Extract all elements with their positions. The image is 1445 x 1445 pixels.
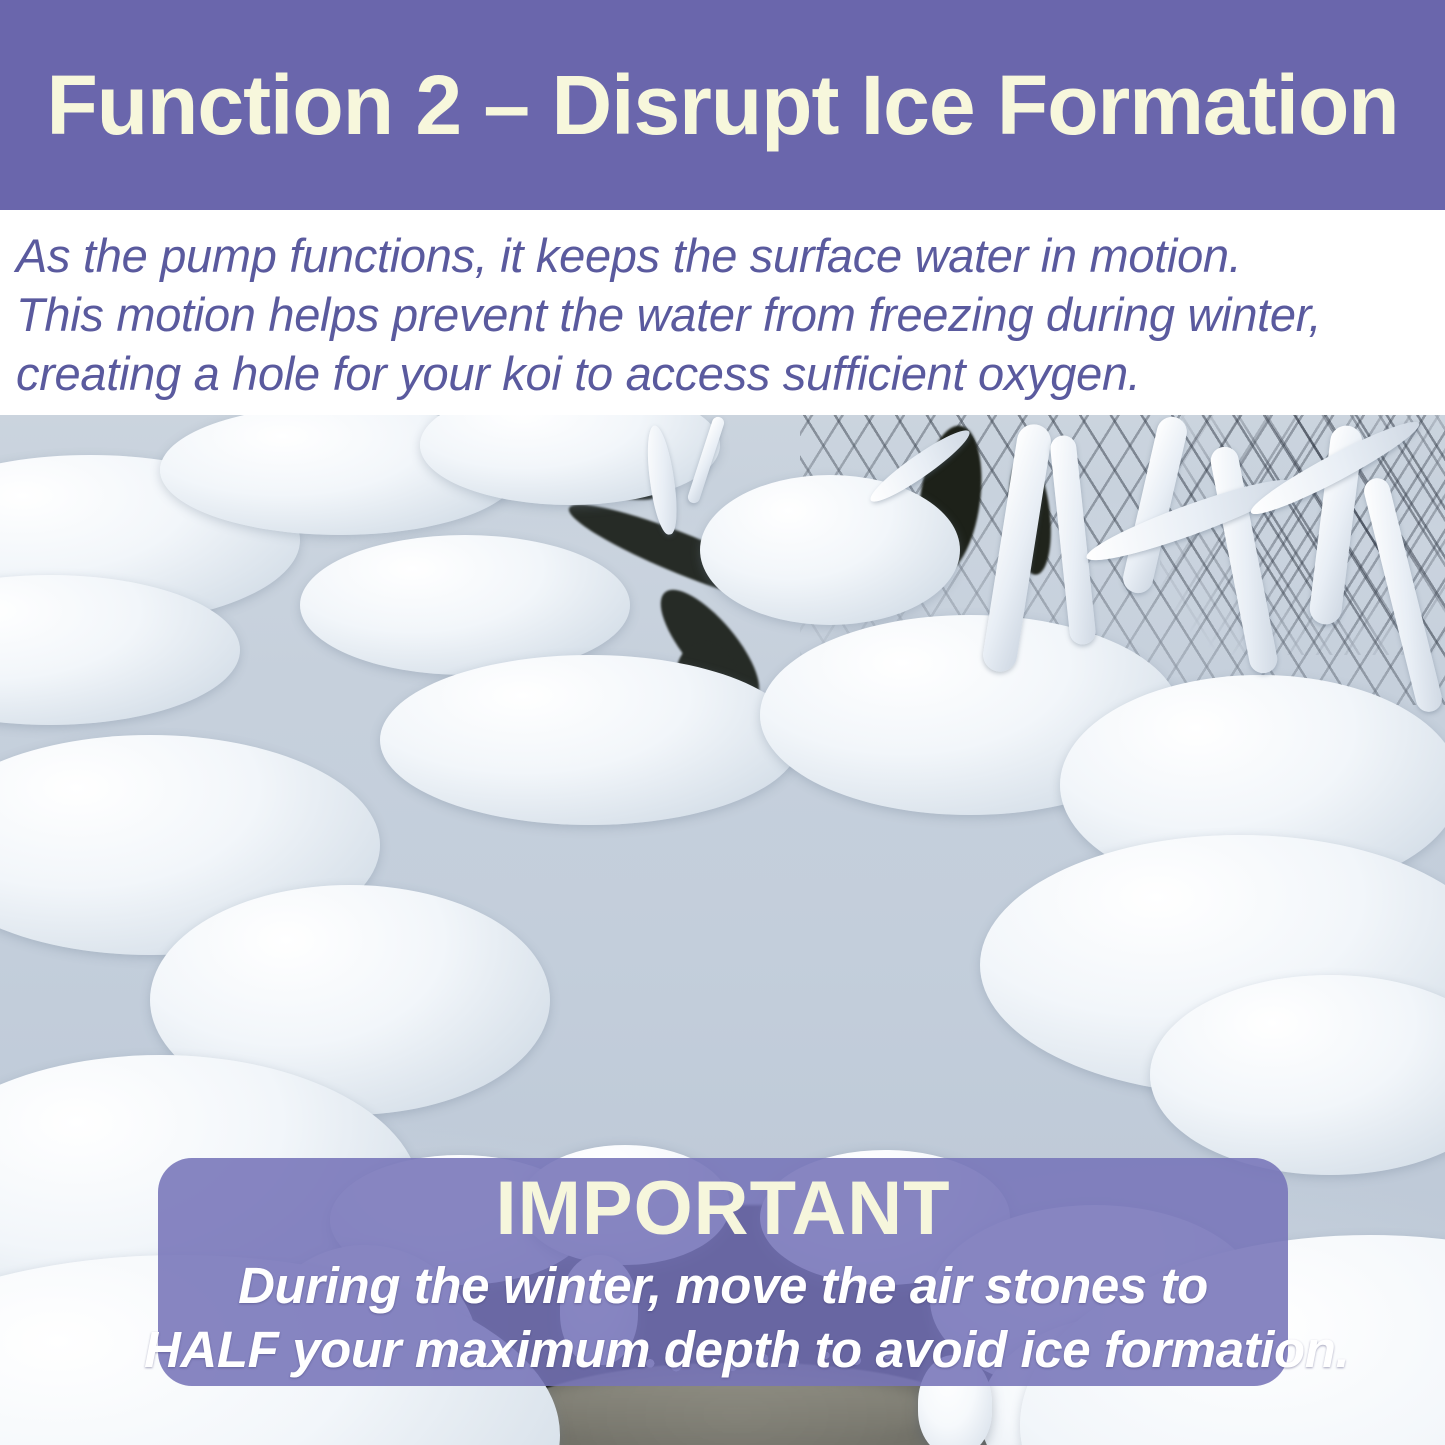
callout-body: During the winter, move the air stones t…: [144, 1254, 1302, 1382]
infographic-page: Function 2 – Disrupt Ice Formation As th…: [0, 0, 1445, 1445]
callout-line-1: During the winter, move the air stones t…: [144, 1254, 1302, 1318]
intro-paragraph: As the pump functions, it keeps the surf…: [0, 210, 1445, 415]
callout-title: IMPORTANT: [158, 1168, 1288, 1250]
important-callout: IMPORTANT During the winter, move the ai…: [158, 1158, 1288, 1386]
intro-line-3: creating a hole for your koi to access s…: [16, 344, 1431, 403]
snow-mound-5: [700, 475, 960, 625]
intro-line-1: As the pump functions, it keeps the surf…: [16, 226, 1431, 285]
page-title: Function 2 – Disrupt Ice Formation: [46, 63, 1398, 147]
header-banner: Function 2 – Disrupt Ice Formation: [0, 0, 1445, 210]
snow-mound-7: [380, 655, 800, 825]
intro-line-2: This motion helps prevent the water from…: [16, 285, 1431, 344]
snow-mound-6: [300, 535, 630, 675]
callout-line-2: HALF your maximum depth to avoid ice for…: [144, 1318, 1302, 1382]
